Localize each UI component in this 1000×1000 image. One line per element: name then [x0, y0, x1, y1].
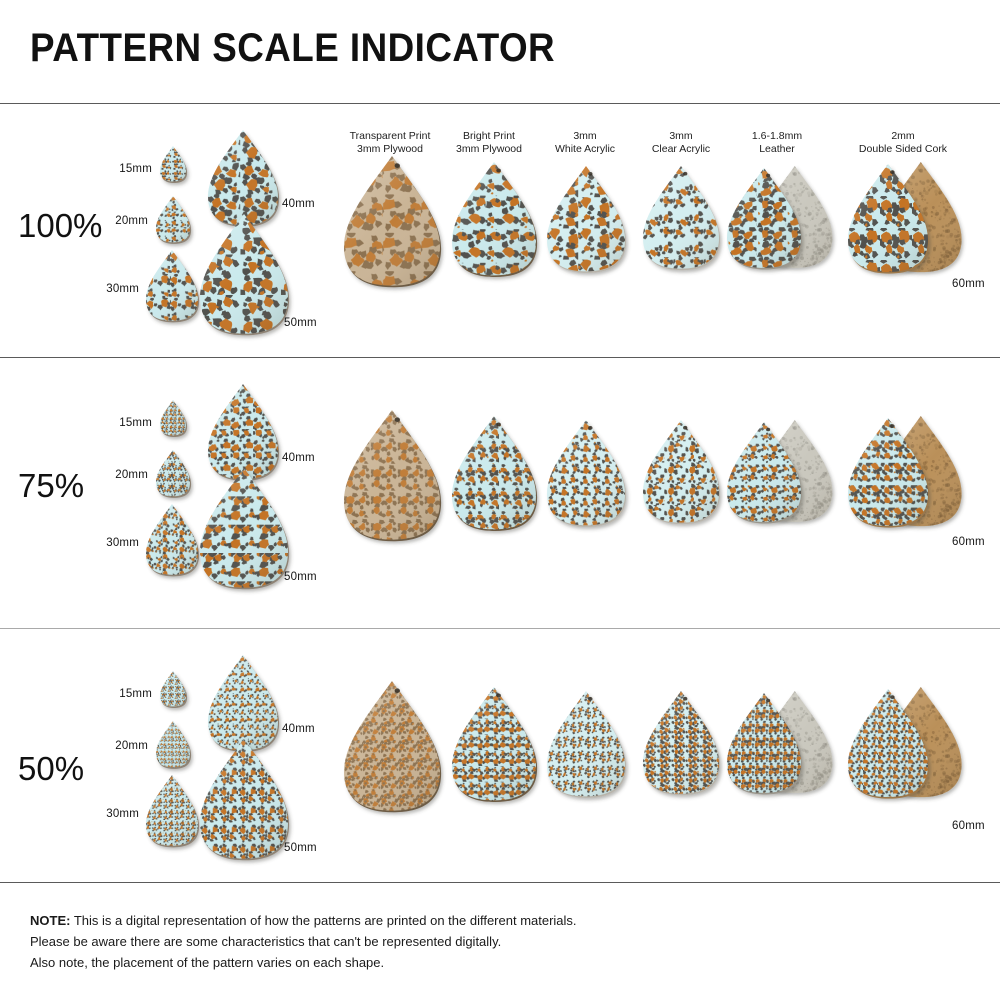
swatch-15mm-row-100 — [157, 143, 189, 187]
size-label-40mm-row-75: 40mm — [282, 452, 315, 464]
column-header-double-sided-cork: 2mmDouble Sided Cork — [859, 130, 947, 155]
column-header-line1: 2mm — [859, 130, 947, 143]
column-header-clear-acrylic: 3mmClear Acrylic — [652, 130, 710, 155]
note-line-1: NOTE: This is a digital representation o… — [30, 910, 577, 931]
size-label-15mm-row-100: 15mm — [119, 163, 152, 175]
size-label-40mm-row-100: 40mm — [282, 198, 315, 210]
note-line-3: Also note, the placement of the pattern … — [30, 952, 577, 973]
column-header-line2: Leather — [752, 143, 802, 156]
column-header-line1: 3mm — [555, 130, 615, 143]
column-header-line1: Bright Print — [456, 130, 522, 143]
size-label-40mm-row-50: 40mm — [282, 723, 315, 735]
column-header-transparent-print-plywood: Transparent Print3mm Plywood — [350, 130, 431, 155]
size-label-15mm-row-50: 15mm — [119, 688, 152, 700]
size-label-30mm-row-75: 30mm — [106, 537, 139, 549]
swatch-20mm-row-100 — [153, 193, 193, 248]
scale-percent-label-row-100: 100% — [18, 207, 102, 245]
column-header-line2: White Acrylic — [555, 143, 615, 156]
material-size-label-row-75: 60mm — [952, 536, 985, 548]
scale-percent-label-row-75: 75% — [18, 467, 84, 505]
note-line-1-text: This is a digital representation of how … — [70, 913, 576, 928]
divider-rule-2 — [0, 628, 1000, 629]
note-line-2: Please be aware there are some character… — [30, 931, 577, 952]
size-label-50mm-row-50: 50mm — [284, 842, 317, 854]
swatch-30mm-row-75 — [143, 501, 201, 581]
note-lead: NOTE: — [30, 913, 70, 928]
column-header-line2: Double Sided Cork — [859, 143, 947, 156]
material-drop-bright-print-plywood-row-75 — [449, 413, 539, 535]
column-header-bright-print-plywood: Bright Print3mm Plywood — [456, 130, 522, 155]
column-header-leather: 1.6-1.8mmLeather — [752, 130, 802, 155]
material-drop-white-acrylic-row-100 — [544, 163, 628, 277]
material-drop-leather-row-100 — [724, 165, 804, 274]
swatch-30mm-row-100 — [143, 247, 201, 327]
material-drop-leather-row-75 — [724, 419, 804, 528]
size-label-20mm-row-100: 20mm — [115, 215, 148, 227]
swatch-30mm-row-50 — [143, 772, 201, 852]
material-drop-white-acrylic-row-75 — [544, 417, 628, 531]
column-header-line2: 3mm Plywood — [456, 143, 522, 156]
material-drop-transparent-print-plywood-row-100 — [341, 153, 443, 292]
column-header-line1: Transparent Print — [350, 130, 431, 143]
swatch-50mm-row-50 — [197, 736, 291, 865]
pattern-scale-indicator-sheet: PATTERN SCALE INDICATOR Transparent Prin… — [0, 0, 1000, 1000]
material-drop-double-sided-cork-row-75 — [845, 415, 931, 532]
material-drop-double-sided-cork-row-50 — [845, 686, 931, 803]
swatch-50mm-row-75 — [197, 465, 291, 594]
note-block: NOTE: This is a digital representation o… — [30, 910, 577, 973]
swatch-15mm-row-75 — [157, 397, 189, 441]
scale-percent-label-row-50: 50% — [18, 750, 84, 788]
size-label-50mm-row-75: 50mm — [284, 571, 317, 583]
divider-rule-0 — [0, 103, 1000, 104]
column-header-line1: 1.6-1.8mm — [752, 130, 802, 143]
divider-rule-3 — [0, 882, 1000, 883]
column-header-white-acrylic: 3mmWhite Acrylic — [555, 130, 615, 155]
material-drop-white-acrylic-row-50 — [544, 688, 628, 802]
material-drop-clear-acrylic-row-75 — [640, 417, 722, 529]
material-drop-bright-print-plywood-row-50 — [449, 684, 539, 806]
material-drop-transparent-print-plywood-row-50 — [341, 678, 443, 817]
size-label-15mm-row-75: 15mm — [119, 417, 152, 429]
material-drop-clear-acrylic-row-50 — [640, 688, 722, 800]
swatch-20mm-row-50 — [153, 718, 193, 773]
material-size-label-row-100: 60mm — [952, 278, 985, 290]
size-label-30mm-row-100: 30mm — [106, 283, 139, 295]
material-drop-clear-acrylic-row-100 — [640, 163, 722, 275]
size-label-30mm-row-50: 30mm — [106, 808, 139, 820]
size-label-50mm-row-100: 50mm — [284, 317, 317, 329]
size-label-20mm-row-50: 20mm — [115, 740, 148, 752]
divider-rule-1 — [0, 357, 1000, 358]
column-header-line1: 3mm — [652, 130, 710, 143]
swatch-50mm-row-100 — [197, 211, 291, 340]
material-drop-leather-row-50 — [724, 690, 804, 799]
material-drop-bright-print-plywood-row-100 — [449, 159, 539, 281]
swatch-20mm-row-75 — [153, 447, 193, 502]
material-drop-transparent-print-plywood-row-75 — [341, 407, 443, 546]
material-size-label-row-50: 60mm — [952, 820, 985, 832]
column-header-line2: Clear Acrylic — [652, 143, 710, 156]
size-label-20mm-row-75: 20mm — [115, 469, 148, 481]
swatch-15mm-row-50 — [157, 668, 189, 712]
material-drop-double-sided-cork-row-100 — [845, 161, 931, 278]
page-title: PATTERN SCALE INDICATOR — [30, 26, 555, 71]
